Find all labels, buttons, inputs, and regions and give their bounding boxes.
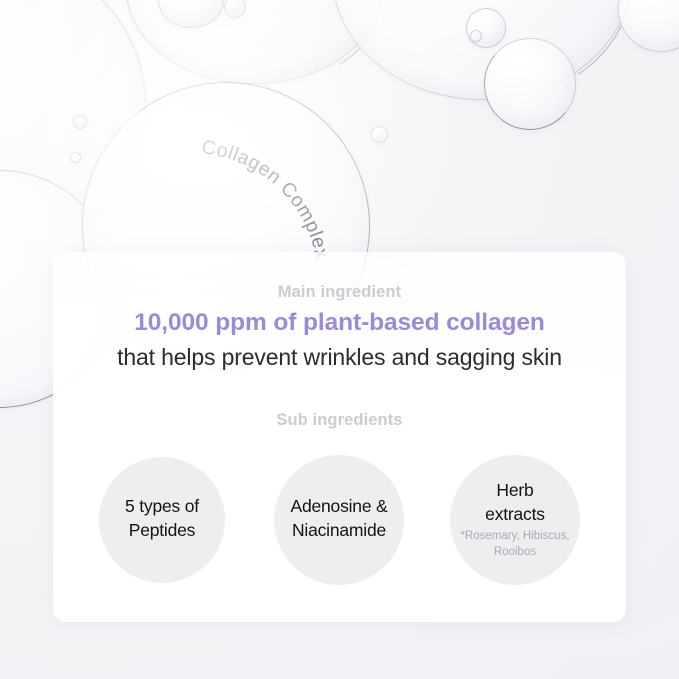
sub-ingredient-circle-peptides: 5 types of Peptides (99, 457, 225, 583)
product-ingredient-graphic: Collagen Complex Main ingredient 10,000 … (0, 0, 679, 679)
sub-ingredient-title: 5 types of Peptides (125, 495, 199, 542)
bubble-satellite-a (73, 115, 87, 129)
sub-ingredients-label: Sub ingredients (53, 411, 626, 430)
sub-ingredient-note: *Rosemary, Hibiscus, Rooibos (460, 529, 569, 561)
bubble-satellite-c (371, 126, 388, 143)
main-ingredient-headline-sub: that helps prevent wrinkles and sagging … (53, 344, 626, 371)
bubble-ring-right (484, 38, 576, 130)
sub-ingredient-circle-adenosine-niacinamide: Adenosine & Niacinamide (274, 455, 404, 585)
sub-ingredients-row: 5 types of Peptides Adenosine & Niacinam… (53, 455, 626, 591)
sub-ingredient-title: Adenosine & Niacinamide (290, 495, 387, 542)
main-ingredient-headline-accent: 10,000 ppm of plant-based collagen (53, 309, 626, 337)
sub-ingredient-circle-herb-extracts: Herb extracts *Rosemary, Hibiscus, Rooib… (450, 455, 580, 585)
bubble-satellite-b (70, 152, 81, 163)
bubble-small-left-of-ring (466, 8, 506, 48)
ingredient-info-card: Main ingredient 10,000 ppm of plant-base… (53, 252, 626, 622)
bubble-satellite-d (470, 30, 482, 42)
main-ingredient-label: Main ingredient (53, 283, 626, 302)
sub-ingredient-title: Herb extracts (485, 479, 545, 526)
bubble-corner-top-right (618, 0, 679, 52)
